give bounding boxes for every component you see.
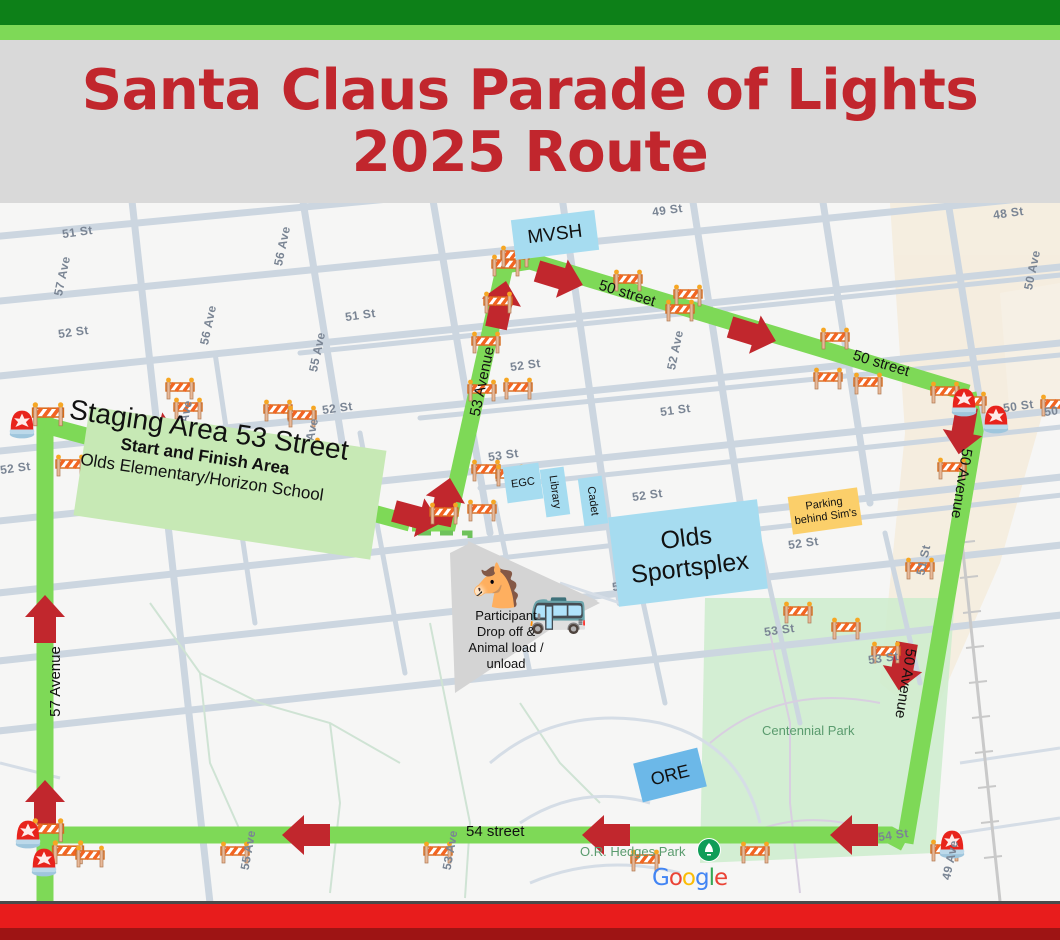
dropoff-line2: Drop off & — [458, 624, 554, 640]
page-title-line1: Santa Claus Parade of Lights — [82, 60, 978, 122]
bottom-red-bar — [0, 904, 1060, 928]
park-name: Centennial Park — [762, 723, 855, 738]
place-olds-sportsplex[interactable]: Olds Sportsplex — [608, 499, 768, 607]
place-label: Cadet — [585, 486, 601, 517]
poster-header: Santa Claus Parade of Lights 2025 Route — [0, 40, 1060, 203]
bottom-dark-red-bar — [0, 928, 1060, 940]
place-egc[interactable]: EGC — [503, 463, 544, 504]
place-label: Olds Sportsplex — [610, 514, 766, 592]
dropoff-label: Participant Drop off & Animal load / unl… — [458, 608, 554, 672]
park-label-centennial: Centennial Park — [762, 723, 852, 738]
top-light-green-bar — [0, 25, 1060, 40]
page-title-line2: 2025 Route — [352, 122, 709, 184]
google-watermark: Google — [652, 865, 727, 891]
map-vector-layer — [0, 203, 1060, 901]
route-label-57-avenue: 57 Avenue — [47, 646, 64, 717]
top-green-bar — [0, 0, 1060, 25]
parade-route-poster: Santa Claus Parade of Lights 2025 Route — [0, 0, 1060, 940]
place-label: EGC — [510, 475, 535, 490]
place-label: MVSH — [526, 221, 583, 250]
dropoff-line1: Participant — [458, 608, 554, 624]
place-label: Parking behind Sim's — [789, 493, 862, 528]
dropoff-line3: Animal load / — [458, 640, 554, 656]
park-name: O.R. Hedges Park — [580, 844, 686, 859]
place-label: ORE — [649, 760, 692, 790]
route-label-54-street: 54 street — [466, 823, 524, 840]
route-map[interactable]: 51 St 52 St 57 Ave 56 Ave 56 Ave 56 Ave … — [0, 203, 1060, 901]
place-label: Library — [547, 475, 564, 510]
horse-icon: 🐴 — [470, 565, 522, 607]
dropoff-line4: unload — [458, 656, 554, 672]
